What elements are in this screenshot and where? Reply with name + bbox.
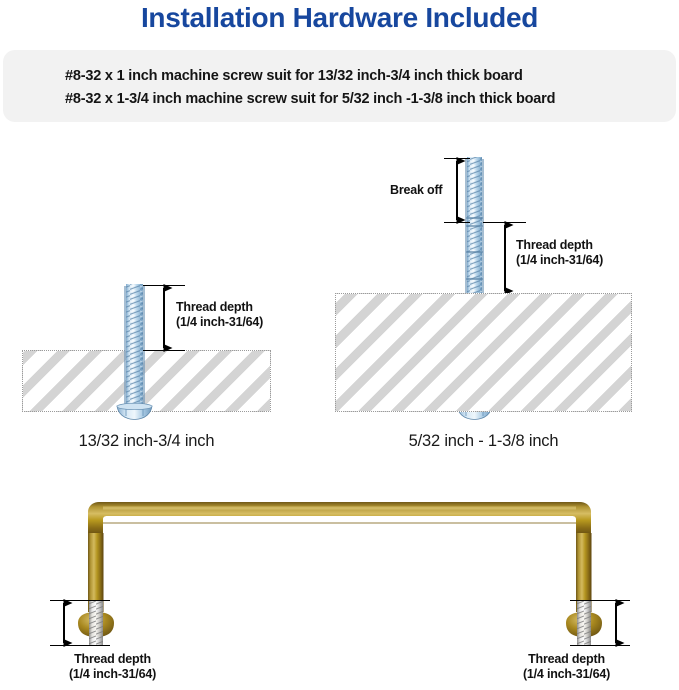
- handle-right-label-line2: (1/4 inch-31/64): [454, 667, 679, 682]
- handle-right-thread-depth-label: Thread depth (1/4 inch-31/64): [454, 652, 679, 682]
- cabinet-handle-image: [78, 502, 602, 645]
- right-thread-depth-label: Thread depth (1/4 inch-31/64): [516, 238, 603, 268]
- page-title: Installation Hardware Included: [0, 2, 679, 34]
- info-line-screw-1-inch: #8-32 x 1 inch machine screw suit for 13…: [65, 68, 523, 84]
- left-board-caption: 13/32 inch-3/4 inch: [22, 432, 271, 451]
- handle-right-label-line1: Thread depth: [454, 652, 679, 667]
- right-board-caption: 5/32 inch - 1-3/8 inch: [335, 432, 632, 451]
- info-line-screw-1-3-4-inch: #8-32 x 1-3/4 inch machine screw suit fo…: [65, 91, 555, 107]
- left-board: [22, 350, 271, 412]
- installation-info-box: #8-32 x 1 inch machine screw suit for 13…: [3, 50, 676, 122]
- handle-left-thread-depth-dimension: [50, 601, 110, 646]
- left-thread-depth-line2: (1/4 inch-31/64): [176, 315, 263, 330]
- break-off-text: Break off: [390, 183, 442, 198]
- handle-left-label-line1: Thread depth: [0, 652, 225, 667]
- right-thread-depth-line2: (1/4 inch-31/64): [516, 253, 603, 268]
- break-off-dimension: [444, 159, 470, 223]
- right-board: [335, 293, 632, 412]
- right-thread-depth-line1: Thread depth: [516, 238, 603, 253]
- left-thread-depth-label: Thread depth (1/4 inch-31/64): [176, 300, 263, 330]
- handle-right-thread-depth-dimension: [570, 601, 630, 646]
- left-thread-depth-line1: Thread depth: [176, 300, 263, 315]
- break-off-label: Break off: [390, 183, 442, 198]
- handle-left-label-line2: (1/4 inch-31/64): [0, 667, 225, 682]
- handle-left-thread-depth-label: Thread depth (1/4 inch-31/64): [0, 652, 225, 682]
